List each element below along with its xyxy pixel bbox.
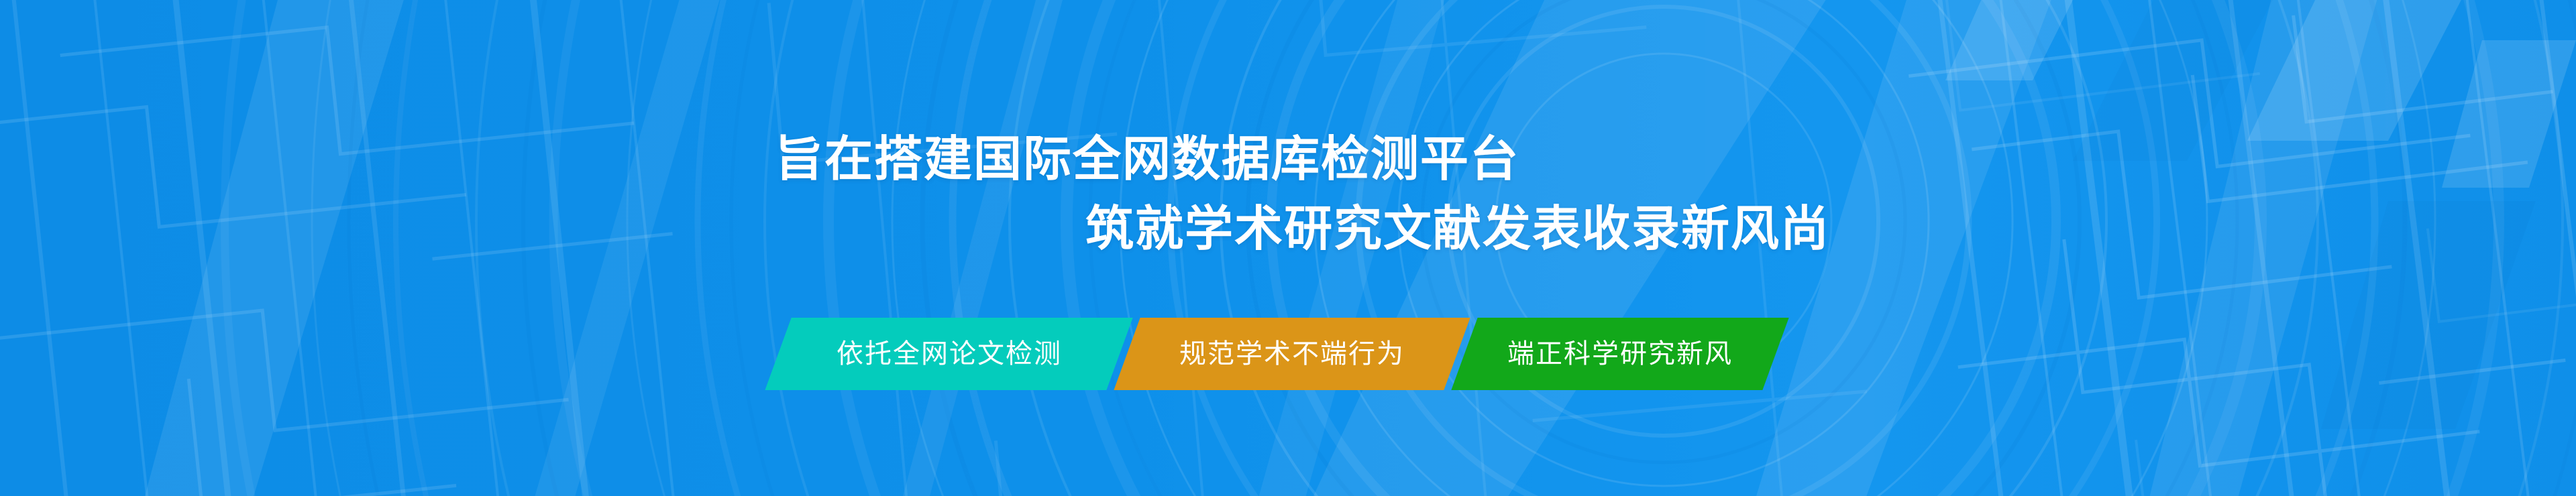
promo-banner: 旨在搭建国际全网数据库检测平台 筑就学术研究文献发表收录新风尚 依托全网论文检测… bbox=[0, 0, 2576, 496]
feature-tag-plagiarism-detection[interactable]: 依托全网论文检测 bbox=[765, 318, 1132, 390]
background-artwork bbox=[0, 0, 2576, 496]
feature-tag-label: 规范学术不端行为 bbox=[1179, 340, 1405, 368]
feature-tag-academic-misconduct[interactable]: 规范学术不端行为 bbox=[1114, 318, 1470, 390]
feature-tag-research-integrity[interactable]: 端正科学研究新风 bbox=[1451, 318, 1788, 390]
feature-tag-label: 依托全网论文检测 bbox=[837, 340, 1062, 368]
feature-tag-strip: 依托全网论文检测 规范学术不端行为 端正科学研究新风 bbox=[778, 318, 1776, 390]
feature-tag-label: 端正科学研究新风 bbox=[1507, 340, 1733, 368]
